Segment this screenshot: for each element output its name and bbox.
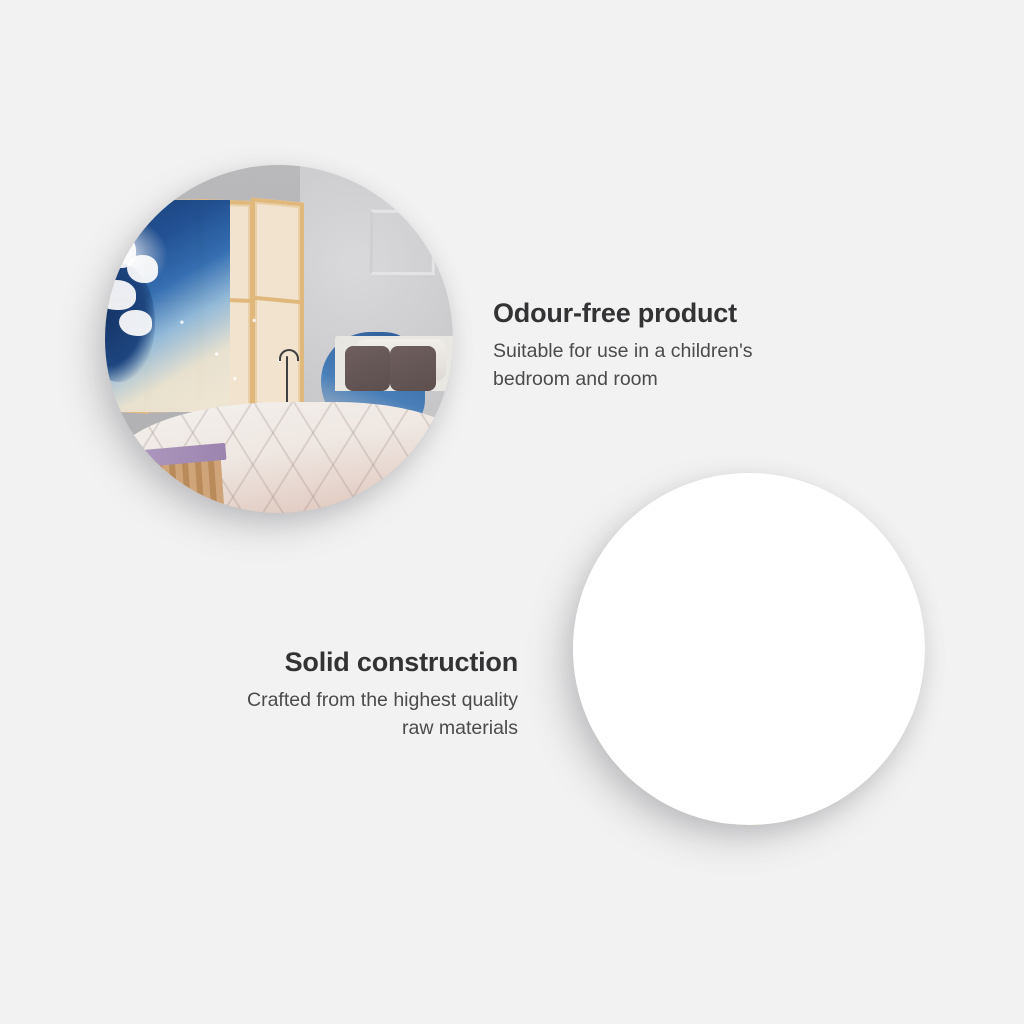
dark-pillow-left (345, 346, 390, 391)
feature-title-odour-free: Odour-free product (493, 298, 853, 329)
wave-crest-3 (105, 280, 136, 310)
feature-collage: Odour-free product Suitable for use in a… (0, 0, 1024, 1024)
bedroom-photo-circle (105, 165, 453, 513)
wave-crest-4 (119, 310, 152, 335)
wood-photo-circle (573, 473, 925, 825)
wave-crest-2 (127, 255, 158, 283)
feature-text-solid-construction: Solid construction Crafted from the high… (150, 647, 518, 743)
bedroom-scene (105, 165, 453, 513)
floor-lamp (286, 356, 288, 405)
feature-subtitle-odour-free-line1: Suitable for use in a children's (493, 337, 853, 365)
wood-scene (573, 473, 925, 825)
wall-picture-frame (370, 210, 436, 276)
feature-subtitle-solid-construction-line2: raw materials (150, 714, 518, 742)
feature-text-odour-free: Odour-free product Suitable for use in a… (493, 298, 853, 394)
feature-subtitle-solid-construction-line1: Crafted from the highest quality (150, 686, 518, 714)
feature-subtitle-odour-free-line2: bedroom and room (493, 365, 853, 393)
dark-pillow-right (390, 346, 435, 391)
feature-title-solid-construction: Solid construction (150, 647, 518, 678)
wood-photo-background (573, 473, 925, 825)
